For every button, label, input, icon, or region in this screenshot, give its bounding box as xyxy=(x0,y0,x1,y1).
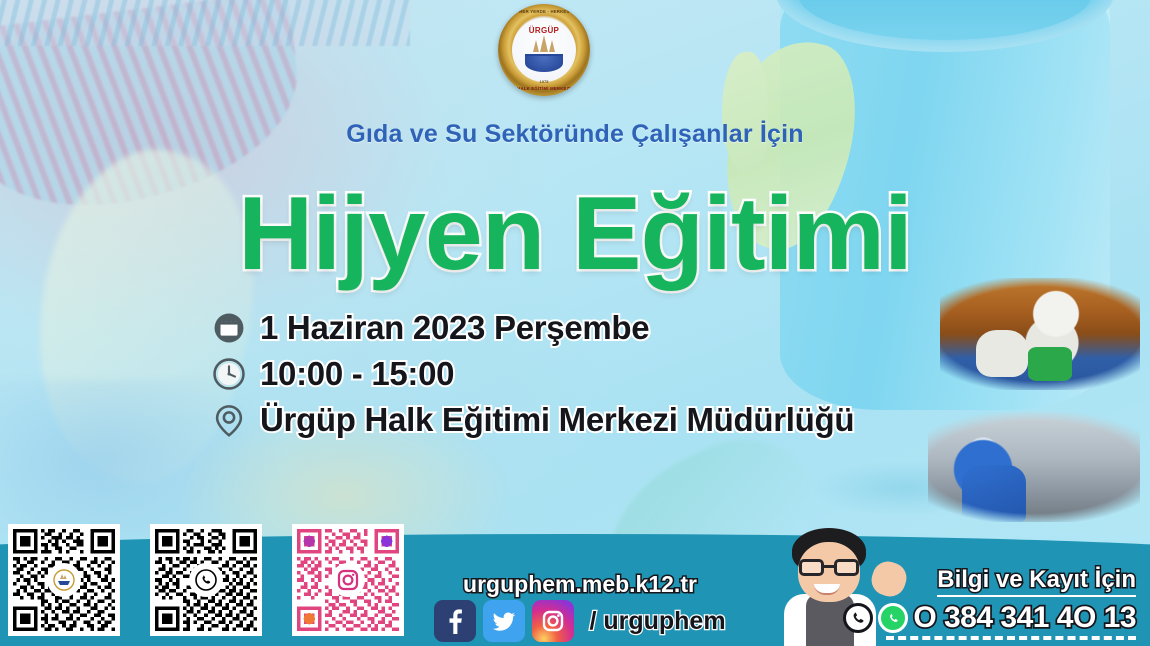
social-links: / urguphem xyxy=(430,600,730,642)
qr-instagram[interactable] xyxy=(292,524,404,636)
photo-inset-worker-protective-suit xyxy=(940,278,1140,390)
instagram-icon[interactable] xyxy=(532,600,574,642)
qr-whatsapp-canvas xyxy=(155,529,257,631)
phone-underline xyxy=(886,636,1136,640)
calendar-icon xyxy=(212,308,246,348)
twitter-icon[interactable] xyxy=(483,600,525,642)
info-row-location: Ürgüp Halk Eğitimi Merkezi Müdürlüğü xyxy=(212,400,854,440)
qr-website-badge-logo xyxy=(49,565,79,595)
whatsapp-icon xyxy=(878,603,908,633)
globe-icon xyxy=(525,54,563,72)
clock-icon xyxy=(212,354,246,394)
event-info-list: 1 Haziran 2023 Perşembe 10:00 - 15:00 Ür… xyxy=(212,308,854,446)
facebook-icon[interactable] xyxy=(434,600,476,642)
info-time-text: 10:00 - 15:00 xyxy=(260,355,454,393)
background-brush-bristles xyxy=(0,0,410,46)
photo-inset-food-factory-worker xyxy=(928,412,1140,522)
qr-website-canvas xyxy=(13,529,115,631)
contact-block: Bilgi ve Kayıt İçin O 384 341 4O 13 xyxy=(843,566,1136,640)
social-handle: / urguphem xyxy=(589,607,725,636)
qr-instagram-badge xyxy=(333,565,363,595)
contact-title: Bilgi ve Kayıt İçin xyxy=(937,566,1136,597)
logo-ring-bottom-text: HALK EĞİTİMİ MERKEZİ xyxy=(517,86,571,91)
location-pin-icon xyxy=(212,400,246,440)
info-date-text: 1 Haziran 2023 Perşembe xyxy=(260,309,649,347)
logo-year: 1975 xyxy=(540,79,549,84)
qr-whatsapp-badge xyxy=(191,565,221,595)
poster-title: Hijyen Eğitimi xyxy=(0,182,1150,286)
brush-mask-2 xyxy=(928,412,1140,522)
poster-root: HER ZAMAN - HER YERDE - HERKES İÇİN - EĞ… xyxy=(0,0,1150,646)
poster-subtitle: Gıda ve Su Sektöründe Çalışanlar İçin xyxy=(0,120,1150,149)
website-url[interactable]: urguphem.meb.k12.tr xyxy=(430,571,730,598)
qr-website[interactable] xyxy=(8,524,120,636)
qr-instagram-canvas xyxy=(297,529,399,631)
phone-number: O 384 341 4O 13 xyxy=(913,601,1136,635)
contact-phone-row: O 384 341 4O 13 xyxy=(843,601,1136,635)
info-location-text: Ürgüp Halk Eğitimi Merkezi Müdürlüğü xyxy=(260,401,854,439)
institution-logo: HER ZAMAN - HER YERDE - HERKES İÇİN - EĞ… xyxy=(498,4,590,96)
phone-icon xyxy=(843,603,873,633)
qr-whatsapp[interactable] xyxy=(150,524,262,636)
logo-ring-top-text: HER ZAMAN - HER YERDE - HERKES İÇİN - EĞ… xyxy=(498,9,590,14)
brush-mask-1 xyxy=(940,278,1140,390)
fairy-chimneys-icon xyxy=(533,35,555,52)
info-row-date: 1 Haziran 2023 Perşembe xyxy=(212,308,854,348)
logo-city-name: ÜRGÜP xyxy=(529,26,559,35)
info-row-time: 10:00 - 15:00 xyxy=(212,354,854,394)
